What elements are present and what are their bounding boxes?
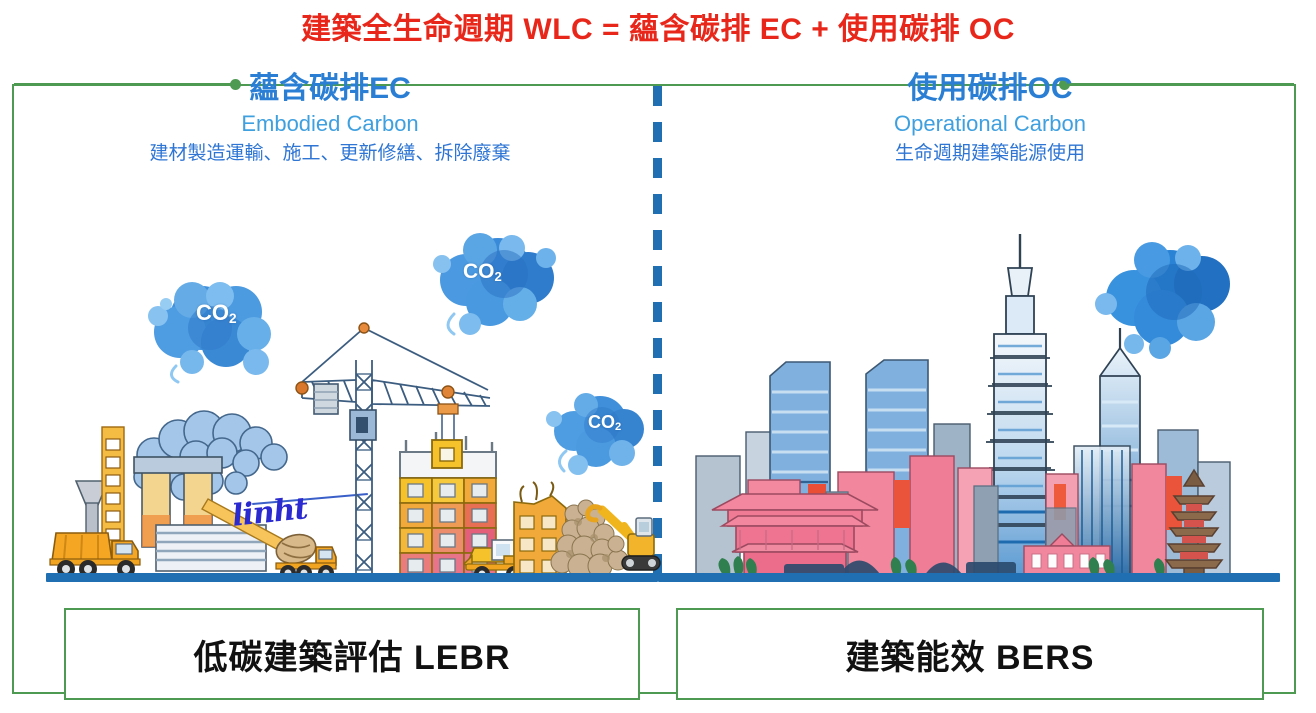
panel-heading-ec: 蘊含碳排EC Embodied Carbon 建材製造運輸、施工、更新修繕、拆除…	[60, 72, 600, 167]
co2-cloud-2-label: CO2	[463, 260, 502, 284]
co2-cloud-1-label: CO2	[196, 300, 237, 326]
co2-cloud-3	[540, 385, 665, 485]
co2-label-sub: 2	[229, 311, 237, 326]
ec-subtitle: 建材製造運輸、施工、更新修繕、拆除廢棄	[60, 142, 600, 167]
co2-label-text: CO	[463, 260, 495, 283]
result-box-bers-label: 建築能效 BERS	[846, 630, 1095, 679]
result-box-lebr-label: 低碳建築評估 LEBR	[194, 630, 511, 679]
page-title: 建築全生命週期 WLC = 蘊含碳排 EC + 使用碳排 OC	[0, 4, 1316, 48]
oc-heading-cn: 使用碳排OC	[720, 72, 1260, 107]
co2-cloud-3-label: CO2	[588, 412, 621, 433]
result-box-bers[interactable]: 建築能效 BERS	[676, 608, 1264, 700]
ec-heading-cn: 蘊含碳排EC	[60, 72, 600, 107]
demolition-rubble-icon	[510, 478, 660, 582]
oc-heading-en: Operational Carbon	[720, 110, 1260, 139]
ground-line-left	[46, 573, 658, 582]
result-box-lebr[interactable]: 低碳建築評估 LEBR	[64, 608, 640, 700]
slide-canvas: 建築全生命週期 WLC = 蘊含碳排 EC + 使用碳排 OC 蘊含碳排EC E…	[0, 0, 1316, 713]
ground-line-right	[658, 573, 1280, 582]
co2-label-sub: 2	[495, 269, 502, 284]
co2-label-text: CO	[196, 300, 229, 325]
ec-heading-en: Embodied Carbon	[60, 110, 600, 139]
oc-subtitle: 生命週期建築能源使用	[720, 142, 1260, 167]
panel-heading-oc: 使用碳排OC Operational Carbon 生命週期建築能源使用	[720, 72, 1260, 167]
co2-label-sub: 2	[615, 421, 621, 433]
co2-cloud-1	[140, 270, 310, 390]
co2-label-text: CO	[588, 412, 615, 432]
city-skyline-icon	[688, 224, 1238, 576]
